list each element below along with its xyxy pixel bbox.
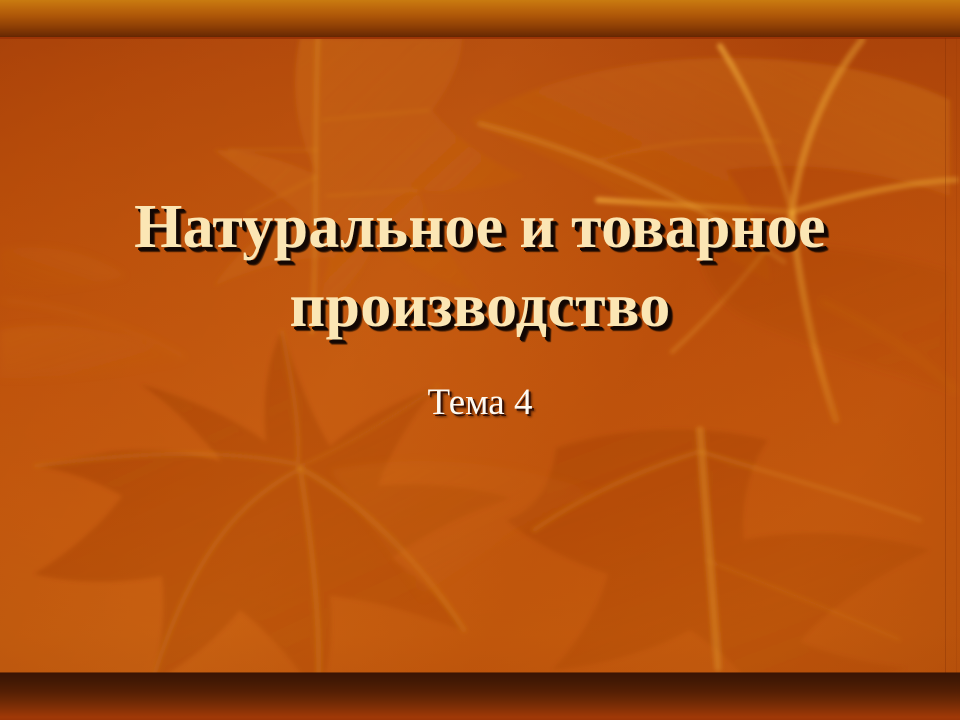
slide-subtitle: Тема 4 [428, 381, 533, 425]
title-slide: Натуральное и товарное производство Тема… [0, 0, 960, 720]
slide-title: Натуральное и товарное производство [0, 188, 960, 347]
bottom-gradient-band [0, 673, 960, 720]
title-text-block: Натуральное и товарное производство Тема… [0, 38, 960, 673]
top-gradient-band [0, 0, 960, 38]
